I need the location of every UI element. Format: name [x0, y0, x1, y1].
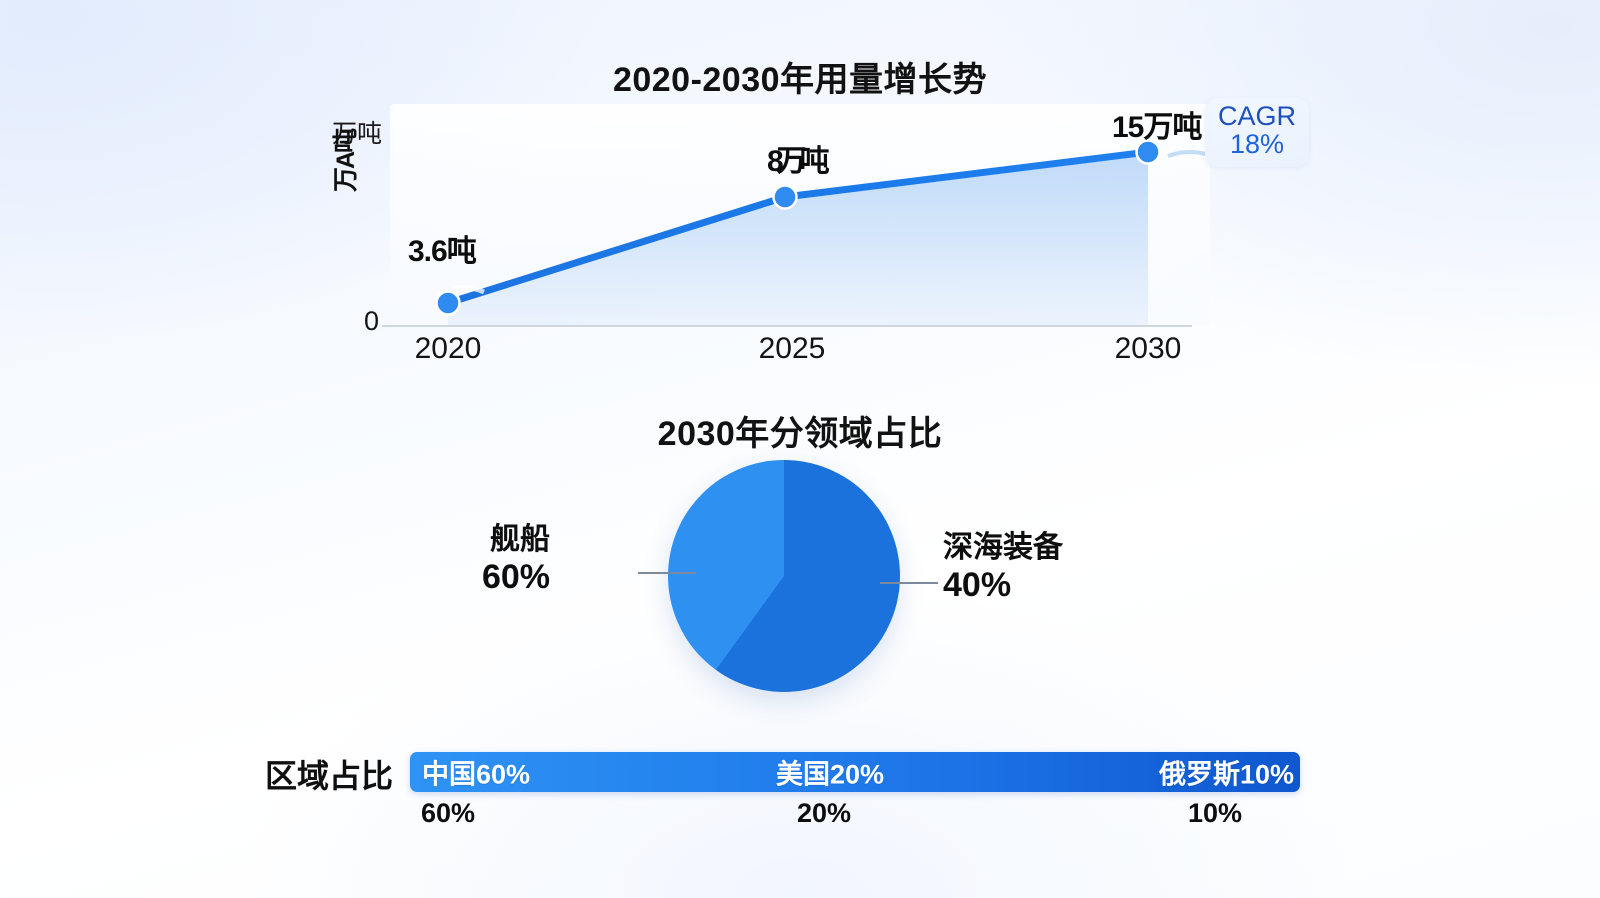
region-under-label-russia: 10%	[1188, 798, 1242, 829]
region-bar-label-usa: 美国20%	[776, 753, 884, 792]
region-share-bar: 中国60% 美国20% 俄罗斯10%	[410, 752, 1300, 792]
data-label-2025: 8万吨	[767, 136, 823, 180]
pie-leader-line-right	[880, 582, 938, 584]
pie-slice-percent-deepsea: 40%	[943, 565, 1063, 605]
x-axis-tick-2020: 2020	[415, 332, 482, 366]
region-under-label-usa: 20%	[797, 798, 851, 829]
data-label-2030: 15万吨	[1112, 102, 1201, 146]
data-label-2020: 3.6吨	[408, 226, 476, 270]
region-bar-label-china: 中国60%	[422, 753, 530, 792]
cagr-value: 18%	[1211, 130, 1303, 158]
cagr-label: CAGR	[1211, 102, 1303, 130]
region-share-title: 区域占比	[265, 751, 393, 797]
pie-chart	[668, 460, 900, 692]
pie-slice-name-ships: 舰船	[482, 522, 550, 557]
x-axis-tick-2030: 2030	[1115, 332, 1182, 366]
region-under-label-china: 60%	[421, 798, 475, 829]
x-axis-tick-2025: 2025	[759, 332, 826, 366]
decorative-swoosh-left	[450, 287, 484, 292]
pie-chart-title: 2030年分领域占比	[0, 406, 1600, 455]
pie-leader-line-left	[638, 572, 696, 574]
data-point-marker-2025	[774, 186, 797, 209]
infographic-canvas: 2020-2030年用量增长势 万吨 万A吨 0	[0, 0, 1600, 898]
pie-disc	[668, 460, 900, 692]
region-bar-label-russia: 俄罗斯10%	[1159, 753, 1294, 792]
line-chart-title: 2020-2030年用量增长势	[0, 52, 1600, 101]
pie-slice-percent-ships: 60%	[482, 557, 550, 597]
pie-slice-label-ships: 舰船 60%	[482, 522, 550, 598]
line-chart: 万吨 万A吨 0	[330, 100, 1230, 365]
data-point-marker-2020	[437, 292, 460, 315]
pie-slice-name-deepsea: 深海装备	[943, 530, 1063, 565]
pie-slice-label-deepsea: 深海装备 40%	[943, 530, 1063, 606]
region-share-section: 区域占比 中国60% 美国20% 俄罗斯10% 60% 20% 10%	[0, 745, 1600, 855]
cagr-badge: CAGR 18%	[1205, 98, 1309, 167]
